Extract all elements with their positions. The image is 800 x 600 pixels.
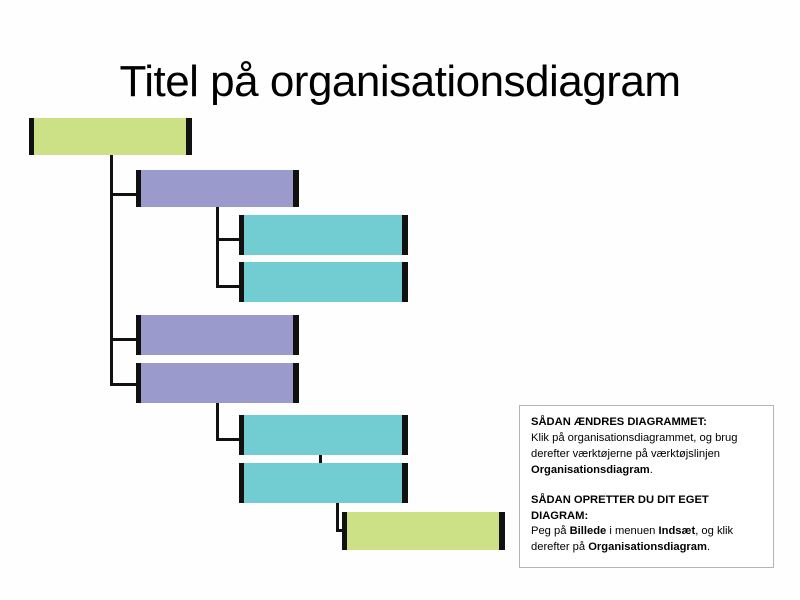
node-cap-right-icon <box>293 315 299 355</box>
instructions-body-2b: i menuen <box>606 525 658 537</box>
node-cap-right-icon <box>402 463 408 503</box>
instructions-body-2a: Peg på <box>531 525 570 537</box>
connector-trunk-main <box>110 155 113 385</box>
node-cap-right-icon <box>402 415 408 455</box>
instructions-paragraph-1: SÅDAN ÆNDRES DIAGRAMMET: Klik på organis… <box>531 415 763 479</box>
node-cap-right-icon <box>402 262 408 302</box>
org-node-3[interactable] <box>239 215 408 255</box>
instructions-bold-indsaet: Indsæt <box>659 525 696 537</box>
org-node-8[interactable] <box>239 463 408 503</box>
instructions-body-1a: Klik på organisationsdiagrammet, og brug… <box>531 432 737 460</box>
org-node-6[interactable] <box>136 363 299 403</box>
node-cap-right-icon <box>293 170 299 207</box>
connector-trunk-node-2 <box>216 203 219 288</box>
node-cap-right-icon <box>186 118 192 155</box>
org-node-7[interactable] <box>239 415 408 455</box>
node-body <box>141 363 294 403</box>
node-body <box>141 170 294 207</box>
node-body <box>244 415 403 455</box>
node-cap-right-icon <box>293 363 299 403</box>
org-node-4[interactable] <box>239 262 408 302</box>
org-node-2[interactable] <box>136 170 299 207</box>
instructions-bold-organisationsdiagram-1: Organisationsdiagram <box>531 464 650 476</box>
instructions-bold-organisationsdiagram-2: Organisationsdiagram <box>588 541 707 553</box>
node-body <box>141 315 294 355</box>
instructions-paragraph-2: SÅDAN OPRETTER DU DIT EGET DIAGRAM: Peg … <box>531 493 763 557</box>
instructions-textbox: SÅDAN ÆNDRES DIAGRAMMET: Klik på organis… <box>519 405 774 568</box>
node-body <box>347 512 500 550</box>
org-node-root[interactable] <box>29 118 192 155</box>
instructions-heading-2: SÅDAN OPRETTER DU DIT EGET DIAGRAM: <box>531 494 709 522</box>
org-node-5[interactable] <box>136 315 299 355</box>
node-body <box>244 215 403 255</box>
node-body <box>34 118 187 155</box>
instructions-body-2d: . <box>707 541 710 553</box>
instructions-body-1b: . <box>650 464 653 476</box>
node-cap-right-icon <box>402 215 408 255</box>
instructions-heading-1: SÅDAN ÆNDRES DIAGRAMMET: <box>531 416 707 428</box>
node-body <box>244 463 403 503</box>
node-body <box>244 262 403 302</box>
org-node-9[interactable] <box>342 512 505 550</box>
node-cap-right-icon <box>499 512 505 550</box>
page-title: Titel på organisationsdiagram <box>40 58 760 106</box>
slide-canvas: Titel på organisationsdiagram <box>0 0 800 600</box>
instructions-bold-billede: Billede <box>570 525 607 537</box>
